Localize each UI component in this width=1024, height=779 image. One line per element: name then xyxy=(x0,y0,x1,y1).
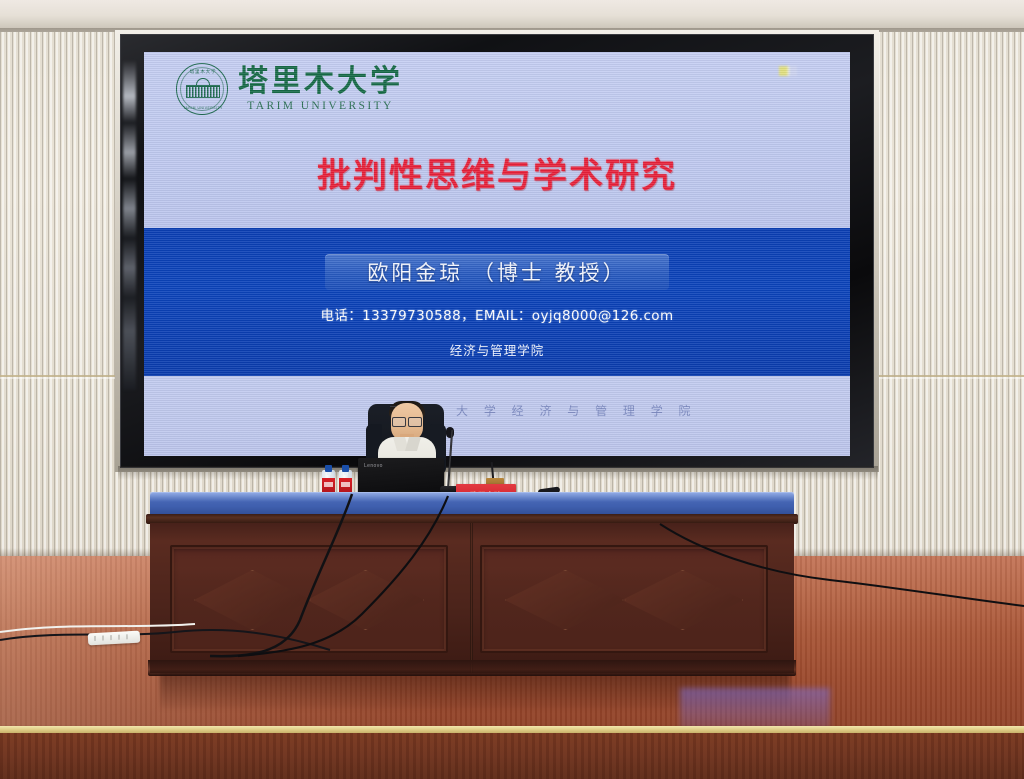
logo-text-block: 塔里木大学 TARIM UNIVERSITY xyxy=(238,67,403,112)
presenter-name-bar: 欧阳金琼 （博士 教授） xyxy=(325,254,669,290)
logo-english-name: TARIM UNIVERSITY xyxy=(238,100,403,112)
presenter-name: 欧阳金琼 （博士 教授） xyxy=(367,257,626,287)
slide-lower-area: 大 学 经 济 与 管 理 学 院 xyxy=(144,376,850,456)
slide-upper-area: 塔里木大学 TARIM UNIVERSITY 塔里木大学 TARIM UNIVE… xyxy=(144,52,850,228)
laptop-brand-label: Lenovo xyxy=(364,463,383,469)
lecture-hall-scene: 塔里木大学 TARIM UNIVERSITY 塔里木大学 TARIM UNIVE… xyxy=(0,0,1024,779)
bezel-reflection xyxy=(123,60,136,390)
logo-chinese-name: 塔里木大学 xyxy=(238,67,403,97)
cable-path-white xyxy=(0,624,195,632)
floor-cables xyxy=(0,480,1024,730)
seal-bottom-text: TARIM UNIVERSITY xyxy=(177,106,229,110)
slide-blue-band: 欧阳金琼 （博士 教授） 电话：13379730588，EMAIL：oyjq80… xyxy=(144,228,850,376)
university-seal-icon: 塔里木大学 TARIM UNIVERSITY xyxy=(176,63,228,115)
university-logo: 塔里木大学 TARIM UNIVERSITY 塔里木大学 TARIM UNIVE… xyxy=(176,63,403,115)
screen-corner-artifact xyxy=(779,66,797,76)
slide-footer-text: 大 学 经 济 与 管 理 学 院 xyxy=(144,402,850,419)
cable-path xyxy=(0,630,330,650)
glasses-bridge xyxy=(390,406,396,407)
seal-dome-shape xyxy=(196,78,210,86)
presenter-contact: 电话：13379730588，EMAIL：oyjq8000@126.com xyxy=(144,304,850,324)
cable-path-right xyxy=(660,524,1024,606)
lower-floor-area xyxy=(0,733,1024,779)
presenter-department: 经济与管理学院 xyxy=(144,340,850,359)
slide-title: 批判性思维与学术研究 xyxy=(144,148,850,197)
seal-top-text: 塔里木大学 xyxy=(177,69,229,75)
bottle-cap xyxy=(342,465,349,472)
cable-path-laptop xyxy=(210,494,352,656)
bottle-cap xyxy=(325,465,332,472)
glasses-icon xyxy=(392,417,422,425)
led-display-screen[interactable]: 塔里木大学 TARIM UNIVERSITY 塔里木大学 TARIM UNIVE… xyxy=(144,52,850,456)
seal-building-shape xyxy=(186,85,220,98)
